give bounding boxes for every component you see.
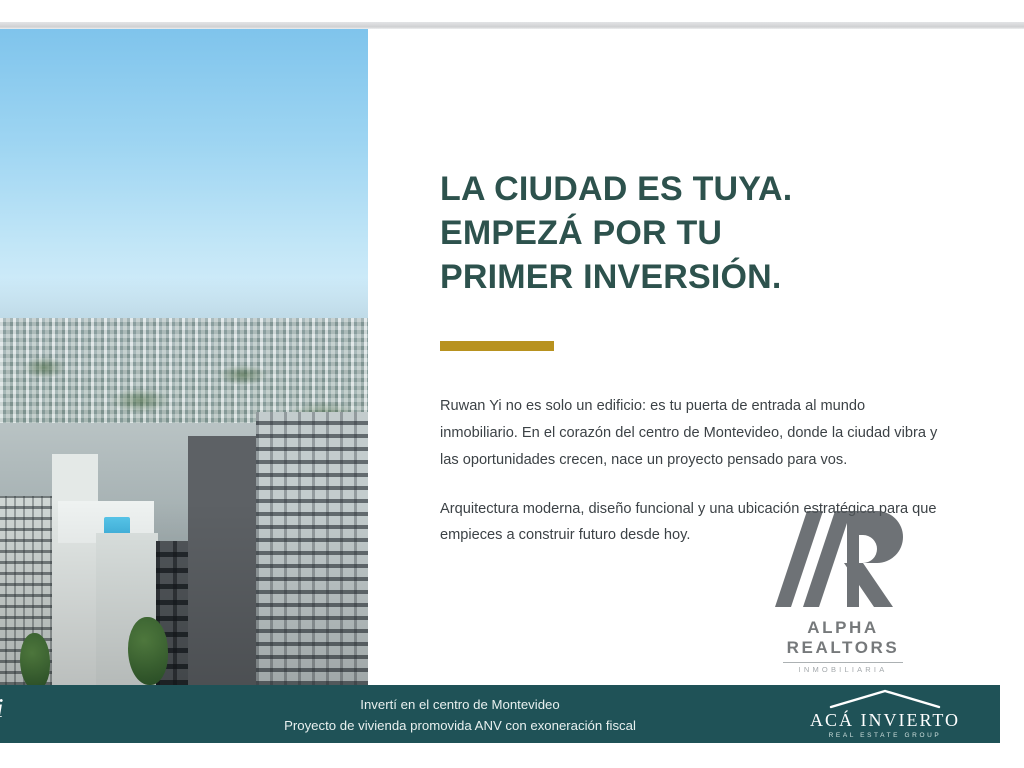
content-panel: LA CIUDAD ES TUYA. EMPEZÁ POR TU PRIMER …: [368, 29, 1000, 685]
headline-line-2: EMPEZÁ POR TU: [440, 211, 960, 255]
paragraph-2: Arquitectura moderna, diseño funcional y…: [440, 496, 940, 550]
aca-invierto-logo: ACÁ INVIERTO REAL ESTATE GROUP: [790, 689, 980, 739]
flyer-slide: LA CIUDAD ES TUYA. EMPEZÁ POR TU PRIMER …: [0, 29, 1000, 743]
body-copy: Ruwan Yi no es solo un edificio: es tu p…: [440, 393, 940, 549]
ruwan-yi-logo: Yi: [0, 693, 60, 724]
footer-line-2: Proyecto de vivienda promovida ANV con e…: [160, 715, 760, 736]
viewer-top-strip: [0, 0, 1024, 22]
page-title: LA CIUDAD ES TUYA. EMPEZÁ POR TU PRIMER …: [440, 167, 960, 300]
headline-line-1: LA CIUDAD ES TUYA.: [440, 167, 960, 211]
foreground-city-layer: [0, 423, 368, 685]
footer-message: Invertí en el centro de Montevideo Proye…: [160, 694, 760, 737]
cityscape-photo: [0, 29, 368, 685]
foreground-tree: [20, 633, 50, 685]
apartment-tower: [256, 412, 368, 685]
image-viewer: LA CIUDAD ES TUYA. EMPEZÁ POR TU PRIMER …: [0, 0, 1024, 768]
footer-band: Yi Invertí en el centro de Montevideo Pr…: [0, 685, 1000, 743]
viewer-divider: [0, 22, 1024, 29]
watermark-subtitle: INMOBILIARIA: [748, 665, 938, 674]
aca-invierto-name: ACÁ INVIERTO: [790, 710, 980, 731]
roof-chevron-icon: [790, 689, 980, 709]
watermark-rule: [783, 662, 903, 663]
brick-tower: [188, 436, 258, 685]
headline-line-3: PRIMER INVERSIÓN.: [440, 255, 960, 299]
building-block: [52, 454, 98, 685]
footer-line-1: Invertí en el centro de Montevideo: [160, 694, 760, 715]
gold-accent-rule: [440, 341, 554, 351]
aca-invierto-subtitle: REAL ESTATE GROUP: [790, 732, 980, 739]
watermark-brand-name: ALPHA REALTORS: [748, 618, 938, 658]
paragraph-1: Ruwan Yi no es solo un edificio: es tu p…: [440, 393, 940, 474]
foreground-tree: [128, 617, 168, 685]
